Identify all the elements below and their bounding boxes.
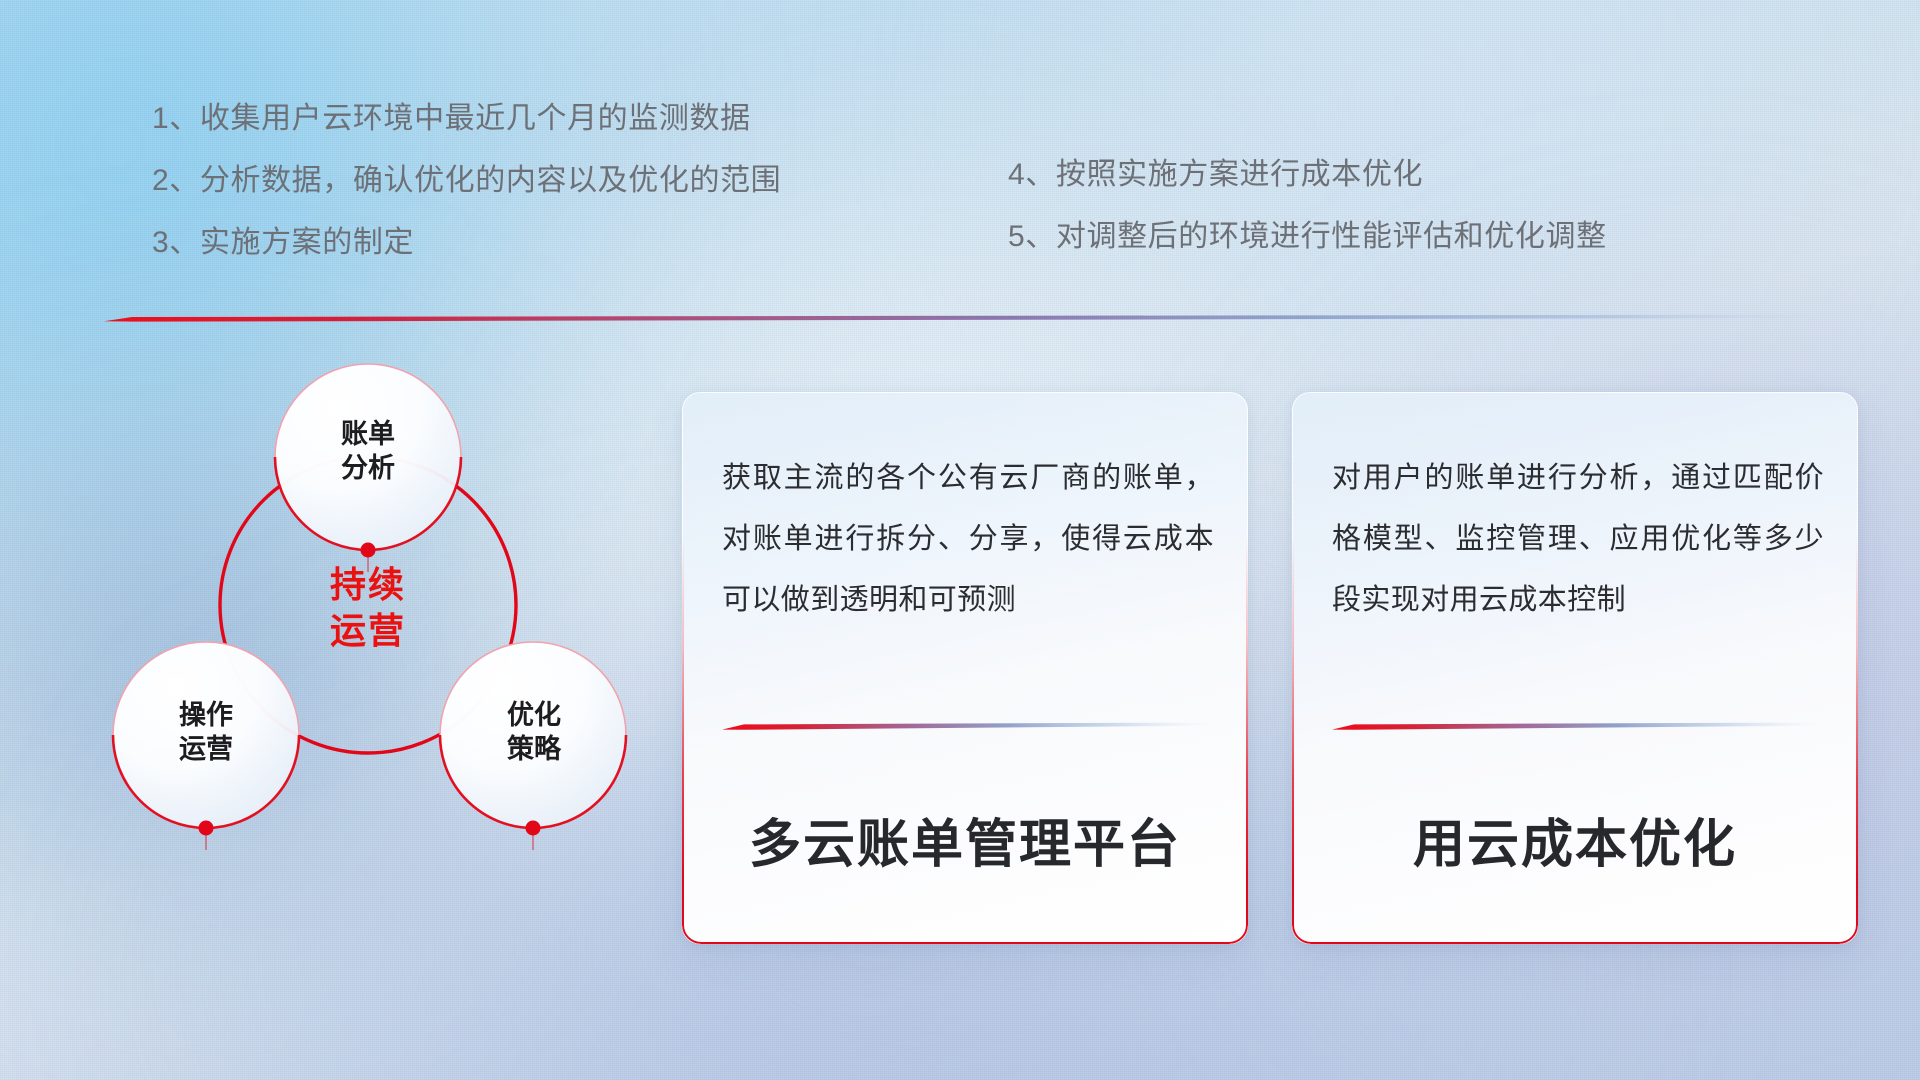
steps-left-column: 1、收集用户云环境中最近几个月的监测数据 2、分析数据，确认优化的内容以及优化的… [152, 104, 781, 258]
card-1-title: 多云账单管理平台 [682, 802, 1248, 877]
step-item-4: 4、按照实施方案进行成本优化 [1008, 160, 1607, 190]
card-1-accent-line [722, 720, 1214, 732]
diagram-dot-bill [361, 543, 376, 558]
card-2-description: 对用户的账单进行分析，通过匹配价格模型、监控管理、应用优化等多少段实现对用云成本… [1332, 448, 1824, 631]
steps-section: 1、收集用户云环境中最近几个月的监测数据 2、分析数据，确认优化的内容以及优化的… [0, 0, 1920, 300]
step-item-3: 3、实施方案的制定 [152, 228, 781, 258]
card-2-accent-line [1332, 720, 1824, 732]
steps-right-column: 4、按照实施方案进行成本优化 5、对调整后的环境进行性能评估和优化调整 [1008, 160, 1607, 252]
diagram-node-policy [440, 642, 626, 828]
diagram-dot-ops [199, 821, 214, 836]
card-1-body: 获取主流的各个公有云厂商的账单，对账单进行拆分、分享，使得云成本可以做到透明和可… [722, 448, 1214, 631]
step-item-1: 1、收集用户云环境中最近几个月的监测数据 [152, 104, 781, 134]
continuous-operation-diagram: 账单 分析 操作 运营 优化 策略 持续 运营 [96, 340, 666, 940]
diagram-connector-bill [361, 543, 376, 573]
diagram-dot-policy [526, 821, 541, 836]
card-2-body: 对用户的账单进行分析，通过匹配价格模型、监控管理、应用优化等多少段实现对用云成本… [1332, 448, 1824, 631]
diagram-node-bill [275, 364, 461, 550]
card-2-title: 用云成本优化 [1292, 802, 1858, 877]
feature-card-cloud-cost-optimization[interactable]: 对用户的账单进行分析，通过匹配价格模型、监控管理、应用优化等多少段实现对用云成本… [1292, 392, 1858, 944]
step-item-5: 5、对调整后的环境进行性能评估和优化调整 [1008, 222, 1607, 252]
diagram-node-ops [113, 642, 299, 828]
diagram-connector-ops [199, 821, 214, 851]
diagram-svg [96, 340, 666, 940]
step-item-2: 2、分析数据，确认优化的内容以及优化的范围 [152, 166, 781, 196]
feature-card-multicloud-billing[interactable]: 获取主流的各个公有云厂商的账单，对账单进行拆分、分享，使得云成本可以做到透明和可… [682, 392, 1248, 944]
diagram-connector-policy [526, 821, 541, 851]
card-1-description: 获取主流的各个公有云厂商的账单，对账单进行拆分、分享，使得云成本可以做到透明和可… [722, 448, 1214, 631]
